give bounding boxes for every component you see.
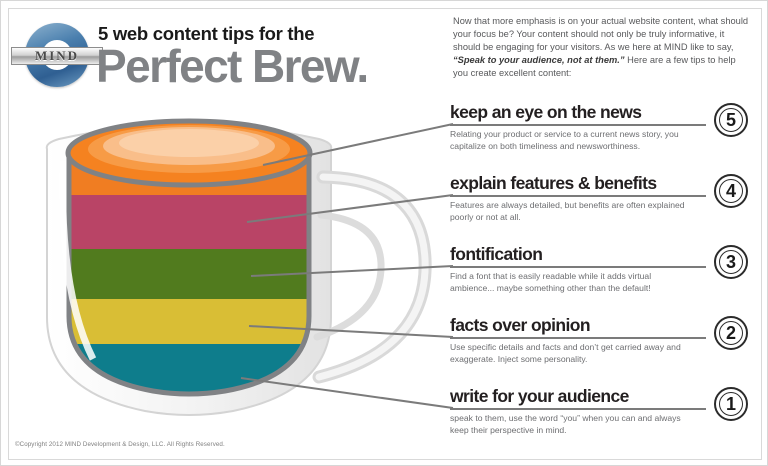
page-title: Perfect Brew. <box>96 39 368 93</box>
infographic-page: MIND 5 web content tips for the Perfect … <box>0 0 768 466</box>
tip-number-badge-4: 4 <box>714 174 748 208</box>
tip-title-1: write for your audience <box>450 385 754 407</box>
tip-item-2[interactable]: facts over opinion Use specific details … <box>450 314 754 385</box>
mind-logo-text: MIND <box>35 48 79 64</box>
tip-number-5: 5 <box>726 111 736 129</box>
intro-text-part1: Now that more emphasis is on your actual… <box>453 16 748 52</box>
cup-handle <box>317 177 425 377</box>
tip-number-4: 4 <box>726 182 736 200</box>
tip-body-4: Features are always detailed, but benefi… <box>450 200 696 223</box>
tip-title-2: facts over opinion <box>450 314 754 336</box>
cup-layers <box>61 151 321 404</box>
tip-number-badge-1: 1 <box>714 387 748 421</box>
tip-title-3: fontification <box>450 243 754 265</box>
copyright-notice: ©Copyright 2012 MIND Development & Desig… <box>15 441 225 448</box>
mind-logo: MIND <box>11 21 99 93</box>
tip-body-3: Find a font that is easily readable whil… <box>450 271 696 294</box>
tip-number-badge-3: 3 <box>714 245 748 279</box>
tip-item-5[interactable]: keep an eye on the news Relating your pr… <box>450 101 754 172</box>
tip-number-badge-2: 2 <box>714 316 748 350</box>
layered-coffee-cup-illustration <box>1 91 461 466</box>
tip-number-3: 3 <box>726 253 736 271</box>
tip-rule-5 <box>450 124 706 126</box>
tip-item-1[interactable]: write for your audience speak to them, u… <box>450 385 754 456</box>
tip-item-3[interactable]: fontification Find a font that is easily… <box>450 243 754 314</box>
tip-item-4[interactable]: explain features & benefits Features are… <box>450 172 754 243</box>
tip-number-2: 2 <box>726 324 736 342</box>
tip-number-1: 1 <box>726 395 736 413</box>
tip-number-badge-5: 5 <box>714 103 748 137</box>
intro-paragraph: Now that more emphasis is on your actual… <box>453 15 753 80</box>
tips-list: keep an eye on the news Relating your pr… <box>450 101 754 456</box>
band-yellow <box>61 299 321 344</box>
intro-quote: “Speak to your audience, not at them.” <box>453 55 625 65</box>
coffee-surface <box>68 121 310 185</box>
tip-body-2: Use specific details and facts and don’t… <box>450 342 696 365</box>
tip-rule-1 <box>450 408 706 410</box>
tip-rule-2 <box>450 337 706 339</box>
band-pink <box>61 195 321 249</box>
tip-title-4: explain features & benefits <box>450 172 754 194</box>
tip-rule-3 <box>450 266 706 268</box>
tip-title-5: keep an eye on the news <box>450 101 754 123</box>
tip-body-1: speak to them, use the word “you” when y… <box>450 413 696 436</box>
mind-logo-band: MIND <box>11 47 103 65</box>
tip-body-5: Relating your product or service to a cu… <box>450 129 696 152</box>
tip-rule-4 <box>450 195 706 197</box>
